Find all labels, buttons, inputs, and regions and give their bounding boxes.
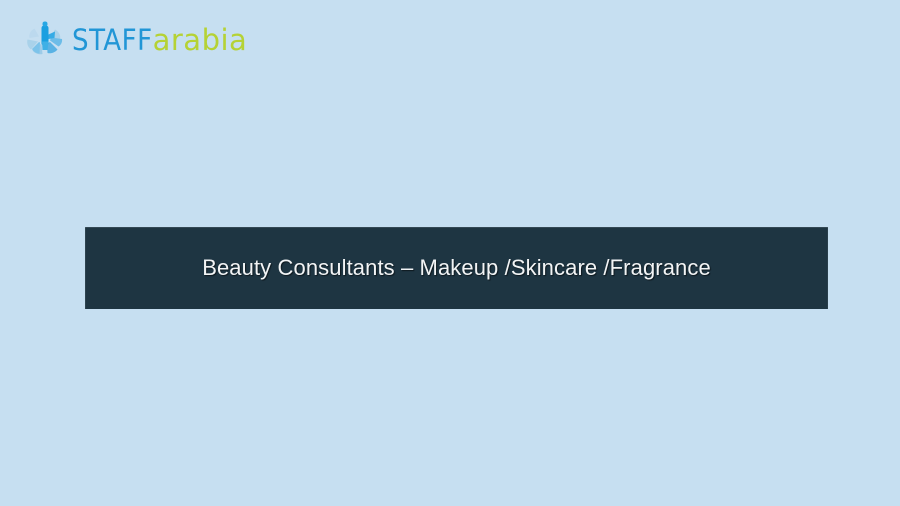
brand-wordmark: STAFFarabia	[72, 26, 247, 55]
title-banner: Beauty Consultants – Makeup /Skincare /F…	[85, 227, 828, 309]
starburst-icon	[22, 17, 68, 63]
slide-canvas: STAFFarabia Beauty Consultants – Makeup …	[0, 0, 900, 506]
slide-title: Beauty Consultants – Makeup /Skincare /F…	[190, 255, 723, 281]
brand-logo[interactable]: STAFFarabia	[22, 14, 282, 66]
brand-primary-text: STAFF	[72, 26, 153, 55]
brand-secondary-text: arabia	[153, 26, 248, 55]
